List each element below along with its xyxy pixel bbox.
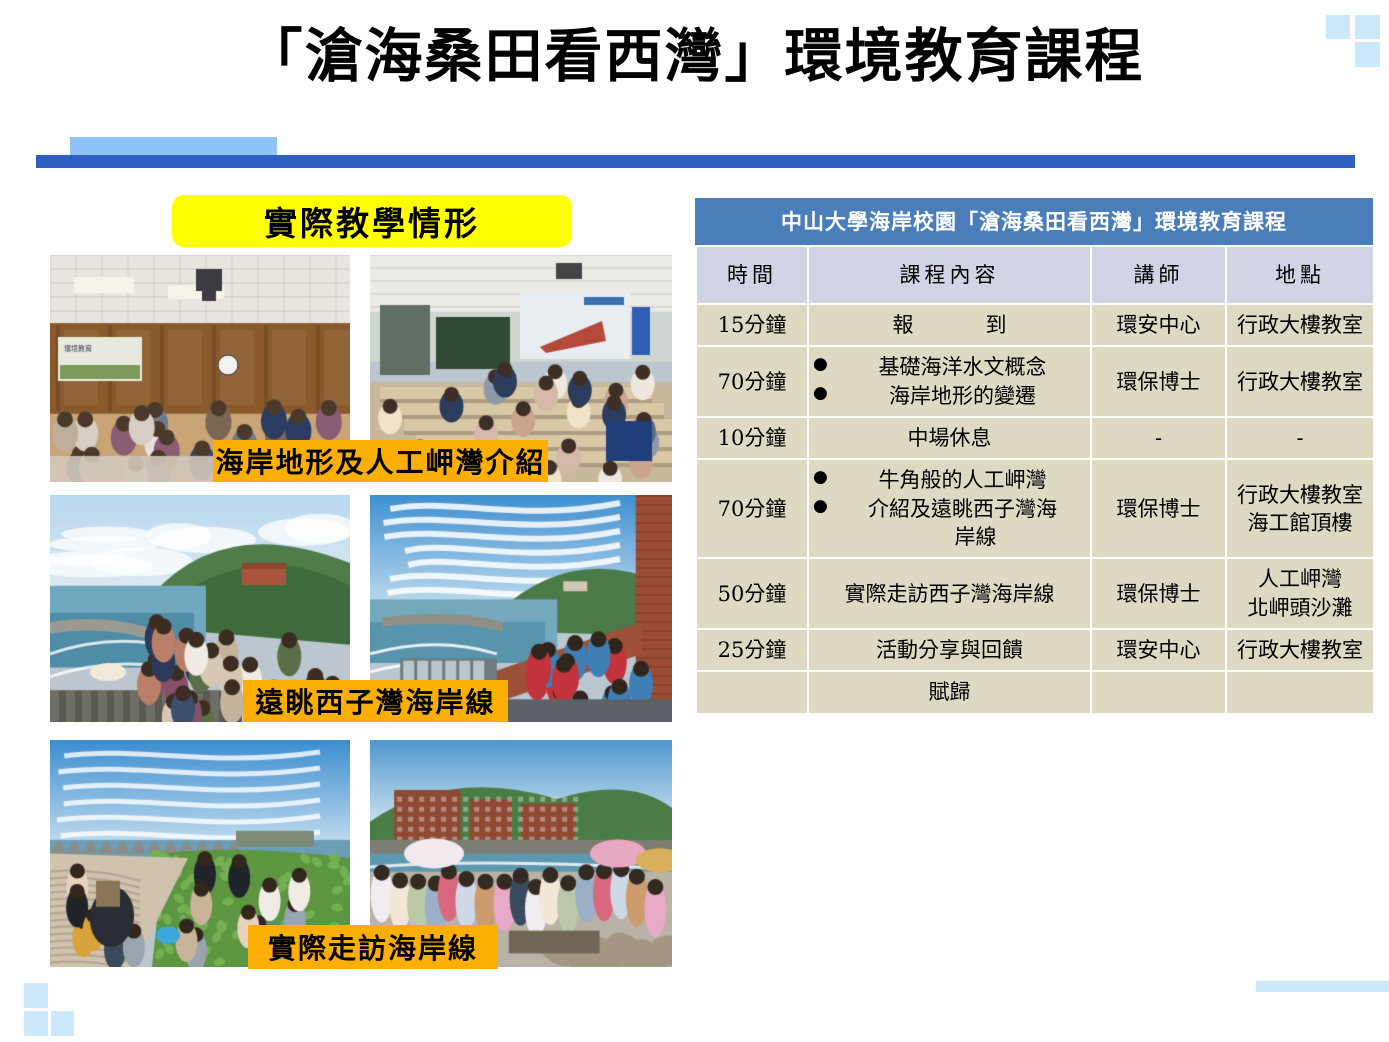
content-line: 岸線 — [813, 523, 1086, 551]
cell-speaker: 環保博士 — [1091, 346, 1226, 417]
table-row: 15分鐘報到環安中心行政大樓教室 — [696, 304, 1374, 346]
schedule-table-container: 中山大學海岸校園「滄海桑田看西灣」環境教育課程 時間 課程內容 講師 地點 15… — [695, 198, 1373, 715]
deco-bar-bottom-right — [1256, 981, 1389, 992]
cell-time: 70分鐘 — [696, 459, 808, 558]
column-header-place: 地點 — [1226, 246, 1374, 304]
cell-place: 行政大樓教室 — [1226, 629, 1374, 671]
cell-content: 基礎海洋水文概念海岸地形的變遷 — [808, 346, 1091, 417]
cell-place: - — [1226, 417, 1374, 459]
table-row: 50分鐘實際走訪西子灣海岸線環保博士人工岬灣北岬頭沙灘 — [696, 558, 1374, 629]
photo-row: 遠眺西子灣海岸線 — [48, 495, 678, 722]
table-row: 70分鐘牛角般的人工岬灣介紹及遠眺西子灣海岸線環保博士行政大樓教室海工館頂樓 — [696, 459, 1374, 558]
photo-row: 海岸地形及人工岬灣介紹 — [48, 255, 678, 482]
photo-gallery-panel: 實際教學情形 海岸地形及人工岬灣介紹 遠眺西子灣海岸線 實際走訪海岸線 — [48, 195, 678, 985]
table-header-row: 時間 課程內容 講師 地點 — [696, 246, 1374, 304]
content-line: 海岸地形的變遷 — [813, 382, 1086, 410]
cell-time: 70分鐘 — [696, 346, 808, 417]
deco-square-bottom-left-1 — [24, 983, 48, 1008]
cell-speaker: - — [1091, 417, 1226, 459]
cell-place: 行政大樓教室 — [1226, 346, 1374, 417]
cell-content: 實際走訪西子灣海岸線 — [808, 558, 1091, 629]
column-header-content: 課程內容 — [808, 246, 1091, 304]
cell-content: 活動分享與回饋 — [808, 629, 1091, 671]
cell-time: 50分鐘 — [696, 558, 808, 629]
cell-content: 牛角般的人工岬灣介紹及遠眺西子灣海岸線 — [808, 459, 1091, 558]
cell-place — [1226, 671, 1374, 713]
content-line: 介紹及遠眺西子灣海 — [813, 495, 1086, 523]
place-line: 人工岬灣 — [1231, 565, 1369, 593]
column-header-speaker: 講師 — [1091, 246, 1226, 304]
table-row: 賦歸 — [696, 671, 1374, 713]
photo-row: 實際走訪海岸線 — [48, 740, 678, 967]
cell-place: 行政大樓教室 — [1226, 304, 1374, 346]
content-line: 基礎海洋水文概念 — [813, 353, 1086, 381]
content-line: 牛角般的人工岬灣 — [813, 466, 1086, 494]
deco-square-bottom-left-3 — [51, 1011, 74, 1036]
cell-place: 行政大樓教室海工館頂樓 — [1226, 459, 1374, 558]
deco-square-bottom-left-2 — [24, 1011, 48, 1036]
photo-caption: 海岸地形及人工岬灣介紹 — [213, 440, 548, 482]
schedule-table: 時間 課程內容 講師 地點 15分鐘報到環安中心行政大樓教室70分鐘基礎海洋水文… — [695, 245, 1375, 715]
cell-time: 15分鐘 — [696, 304, 808, 346]
photo-caption: 遠眺西子灣海岸線 — [243, 680, 508, 722]
cell-speaker — [1091, 671, 1226, 713]
content-line: 報 — [893, 313, 914, 337]
table-row: 10分鐘中場休息-- — [696, 417, 1374, 459]
cell-content: 報到 — [808, 304, 1091, 346]
place-line: 北岬頭沙灘 — [1231, 594, 1369, 622]
photo-caption: 實際走訪海岸線 — [248, 925, 498, 969]
section-badge: 實際教學情形 — [172, 195, 572, 247]
cell-speaker: 環安中心 — [1091, 629, 1226, 671]
divider-bar — [36, 155, 1355, 168]
cell-speaker: 環安中心 — [1091, 304, 1226, 346]
table-row: 70分鐘基礎海洋水文概念海岸地形的變遷環保博士行政大樓教室 — [696, 346, 1374, 417]
place-line: 行政大樓教室 — [1231, 481, 1369, 509]
content-line: 到 — [986, 313, 1007, 337]
schedule-table-body: 15分鐘報到環安中心行政大樓教室70分鐘基礎海洋水文概念海岸地形的變遷環保博士行… — [696, 304, 1374, 714]
cell-speaker: 環保博士 — [1091, 459, 1226, 558]
cell-content: 賦歸 — [808, 671, 1091, 713]
schedule-table-title: 中山大學海岸校園「滄海桑田看西灣」環境教育課程 — [695, 198, 1373, 245]
page-title: 「滄海桑田看西灣」環境教育課程 — [0, 22, 1389, 90]
column-header-time: 時間 — [696, 246, 808, 304]
cell-time: 10分鐘 — [696, 417, 808, 459]
cell-place: 人工岬灣北岬頭沙灘 — [1226, 558, 1374, 629]
place-line: 海工館頂樓 — [1231, 509, 1369, 537]
table-row: 25分鐘活動分享與回饋環安中心行政大樓教室 — [696, 629, 1374, 671]
cell-time: 25分鐘 — [696, 629, 808, 671]
cell-speaker: 環保博士 — [1091, 558, 1226, 629]
cell-time — [696, 671, 808, 713]
cell-content: 中場休息 — [808, 417, 1091, 459]
